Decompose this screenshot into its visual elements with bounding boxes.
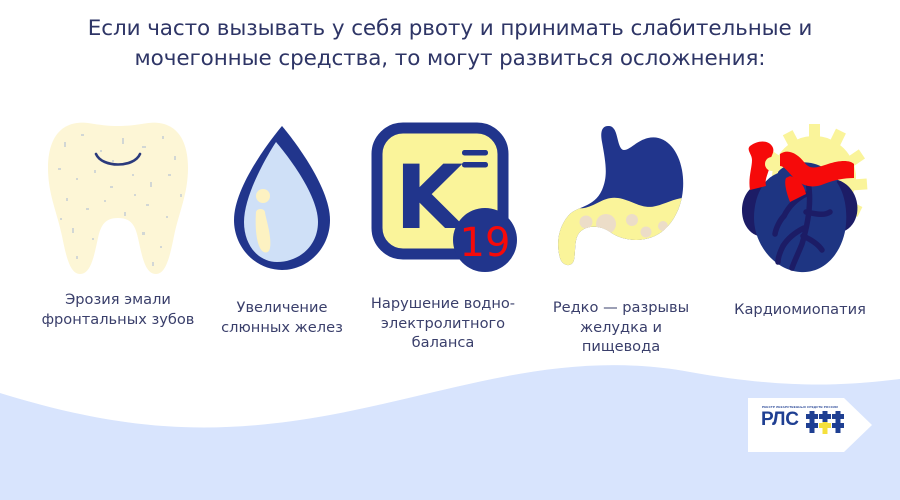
page-title: Если часто вызывать у себя рвоту и прини… <box>50 14 850 74</box>
drop-highlight-dot <box>256 189 270 203</box>
potassium-element-icon: K 19 <box>367 120 519 282</box>
drop-icon-box <box>230 120 334 280</box>
infographic-canvas: Если часто вызывать у себя рвоту и прини… <box>0 0 900 500</box>
tooth-icon <box>46 120 190 278</box>
list-item-potassium: K 19 Нарушение водно- электролитного бал… <box>348 120 538 353</box>
logo-cross-icon <box>806 411 846 435</box>
potassium-icon-box: K 19 <box>367 120 519 282</box>
atomic-number: 19 <box>460 220 511 266</box>
water-drop-icon <box>230 120 334 280</box>
list-item-stomach-caption: Редко — разрывы желудка и пищевода <box>530 298 712 357</box>
list-item-tooth-caption: Эрозия эмали фронтальных зубов <box>18 290 218 329</box>
stomach-icon <box>550 120 692 280</box>
logo-wordmark: РЛС <box>761 409 799 431</box>
list-item-drop: Увеличение слюнных желез <box>212 120 352 337</box>
list-item-heart: Кардиомиопатия <box>706 120 894 320</box>
list-item-heart-caption: Кардиомиопатия <box>706 300 894 320</box>
complications-list: Эрозия эмали фронтальных зубов Увеличени… <box>0 120 900 370</box>
anatomical-heart-icon <box>720 120 880 280</box>
stomach-icon-box <box>550 120 692 280</box>
list-item-potassium-caption: Нарушение водно- электролитного баланса <box>348 294 538 353</box>
drop-inner <box>244 142 318 262</box>
list-item-drop-caption: Увеличение слюнных желез <box>212 298 352 337</box>
tooth-icon-box <box>46 120 190 278</box>
list-item-tooth: Эрозия эмали фронтальных зубов <box>18 120 218 329</box>
stomach-fluid <box>552 198 692 280</box>
heart-icon-box <box>720 120 880 280</box>
page-title-line-2: мочегонные средства, то могут развиться … <box>50 44 850 74</box>
rls-logo[interactable]: РЕЕСТР ЛЕКАРСТВЕННЫХ СРЕДСТВ РОССИИ РЛС <box>748 398 876 452</box>
list-item-stomach: Редко — разрывы желудка и пищевода <box>530 120 712 357</box>
page-title-line-1: Если часто вызывать у себя рвоту и прини… <box>50 14 850 44</box>
